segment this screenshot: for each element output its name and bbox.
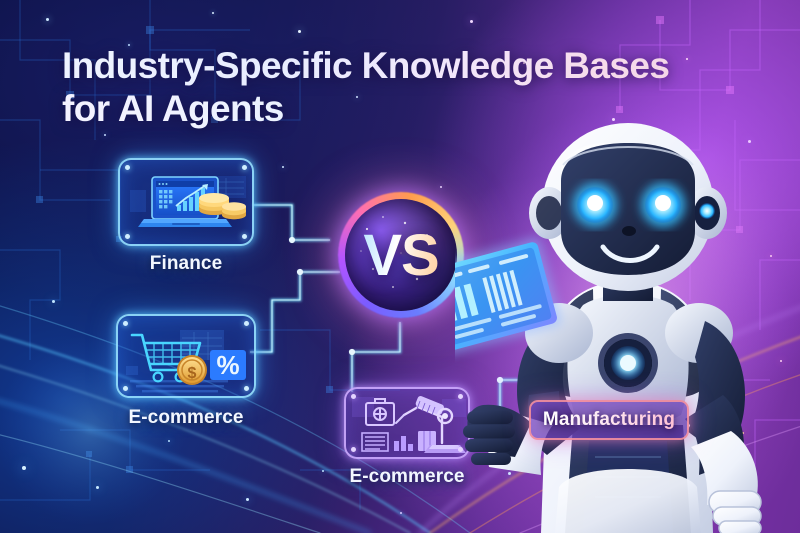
corner-dot xyxy=(125,234,130,239)
ai-robot-character xyxy=(455,95,800,533)
corner-dot xyxy=(123,321,128,326)
corner-dot xyxy=(351,447,356,452)
shopping-cart-coin-percent-icon: % $ xyxy=(118,316,256,398)
corner-dot xyxy=(125,165,130,170)
corner-dot xyxy=(244,386,249,391)
card-ecommerce-label: E-commerce xyxy=(106,407,266,429)
laptop-chart-coins-icon xyxy=(120,160,254,246)
robotic-arm-factory-icon xyxy=(346,389,470,459)
hero-graphic: Industry-Specific Knowledge Bases for AI… xyxy=(0,0,800,533)
card-ecommerce[interactable]: % $ xyxy=(116,314,256,398)
versus-label: VS xyxy=(338,192,464,318)
versus-badge: VS xyxy=(338,192,464,318)
corner-dot xyxy=(351,394,356,399)
manufacturing-badge[interactable]: Manufacturing xyxy=(529,400,689,440)
card-ecommerce-frame: % $ xyxy=(116,314,256,398)
corner-dot xyxy=(244,321,249,326)
corner-dot xyxy=(123,386,128,391)
title-line-1: Industry-Specific Knowledge Bases xyxy=(62,44,702,87)
card-finance-frame xyxy=(118,158,254,246)
svg-text:%: % xyxy=(216,350,239,380)
manufacturing-badge-label: Manufacturing xyxy=(543,409,675,431)
svg-text:$: $ xyxy=(188,365,197,382)
card-ecommerce-2-frame xyxy=(344,387,470,459)
card-ecommerce-2[interactable] xyxy=(344,387,470,459)
corner-dot xyxy=(242,234,247,239)
card-finance[interactable] xyxy=(118,158,254,246)
corner-dot xyxy=(242,165,247,170)
card-finance-label: Finance xyxy=(118,253,254,275)
